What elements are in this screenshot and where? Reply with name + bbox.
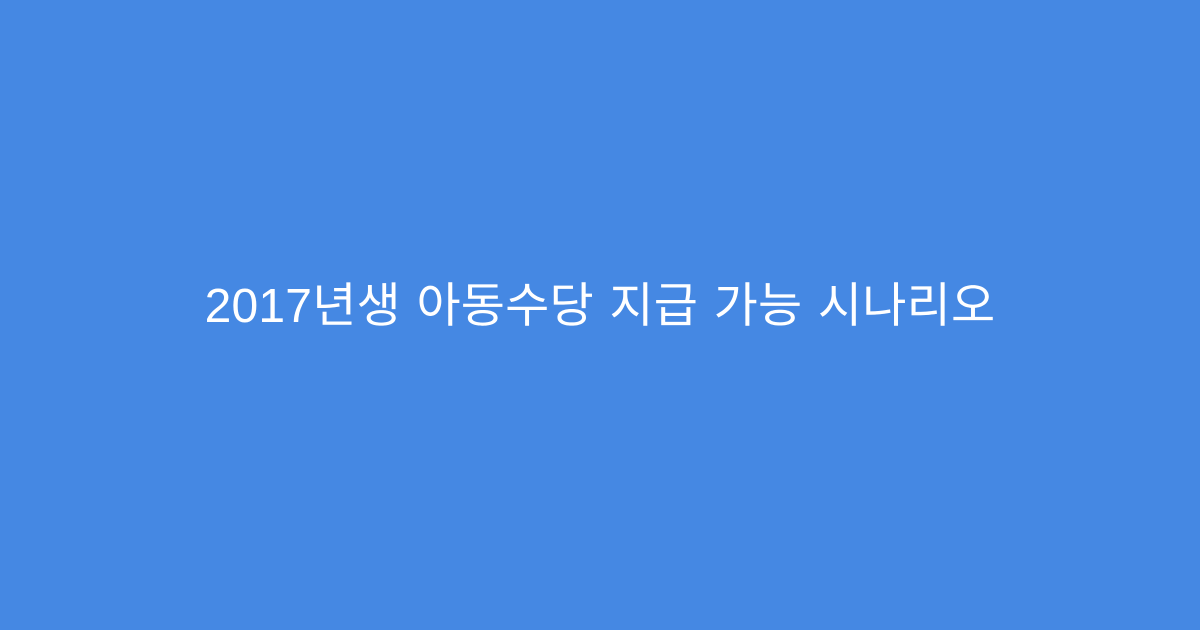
banner-card: 2017년생 아동수당 지급 가능 시나리오 <box>0 0 1200 630</box>
banner-content: 2017년생 아동수당 지급 가능 시나리오 <box>0 276 1200 337</box>
banner-title: 2017년생 아동수당 지급 가능 시나리오 <box>60 276 1140 337</box>
